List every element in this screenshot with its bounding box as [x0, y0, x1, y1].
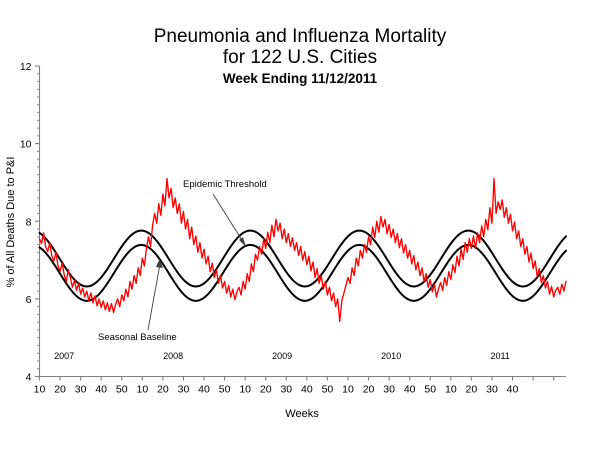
- x-tick-label: 40: [507, 384, 519, 396]
- seasonal-baseline-label: Seasonal Baseline: [98, 332, 177, 343]
- x-tick-label: 20: [363, 384, 375, 396]
- x-tick-label: 50: [424, 384, 436, 396]
- year-label: 2008: [163, 351, 183, 361]
- y-tick-label: 6: [26, 294, 32, 306]
- x-tick-label: 10: [239, 384, 251, 396]
- x-tick-label: 20: [54, 384, 66, 396]
- x-tick-label: 40: [301, 384, 313, 396]
- x-tick-label: 20: [260, 384, 272, 396]
- x-tick-label: 50: [322, 384, 334, 396]
- chart-title-line1: Pneumonia and Influenza Mortality: [154, 26, 447, 47]
- y-axis-title: % of All Deaths Due to P&I: [5, 157, 17, 288]
- x-tick-label: 10: [445, 384, 457, 396]
- y-tick-label: 8: [26, 216, 32, 228]
- x-tick-label: 50: [219, 384, 231, 396]
- chart-figure: Pneumonia and Influenza Mortality for 12…: [0, 0, 600, 450]
- year-label: 2010: [381, 351, 401, 361]
- x-tick-label: 30: [178, 384, 190, 396]
- y-tick-label: 4: [26, 372, 32, 384]
- x-tick-label: 40: [404, 384, 416, 396]
- y-tick-label: 12: [20, 61, 32, 73]
- chart-title-line2: for 122 U.S. Cities: [223, 47, 377, 68]
- x-tick-label: 30: [383, 384, 395, 396]
- x-axis-title: Weeks: [285, 408, 319, 420]
- x-tick-label: 10: [342, 384, 354, 396]
- chart-subtitle: Week Ending 11/12/2011: [223, 71, 378, 86]
- x-tick-label: 30: [75, 384, 87, 396]
- x-tick-label: 10: [136, 384, 148, 396]
- year-label: 2011: [491, 351, 510, 361]
- x-tick-label: 20: [157, 384, 169, 396]
- x-tick-label: 50: [116, 384, 128, 396]
- y-tick-label: 10: [20, 139, 32, 151]
- x-tick-label: 40: [198, 384, 210, 396]
- year-label: 2007: [54, 351, 74, 361]
- x-tick-label: 40: [95, 384, 107, 396]
- chart-canvas: Pneumonia and Influenza Mortality for 12…: [0, 0, 600, 450]
- x-tick-label: 20: [466, 384, 478, 396]
- x-tick-label: 30: [486, 384, 498, 396]
- x-tick-label: 30: [280, 384, 292, 396]
- year-label: 2009: [272, 351, 292, 361]
- x-tick-label: 10: [34, 384, 46, 396]
- epidemic-threshold-label: Epidemic Threshold: [183, 179, 267, 190]
